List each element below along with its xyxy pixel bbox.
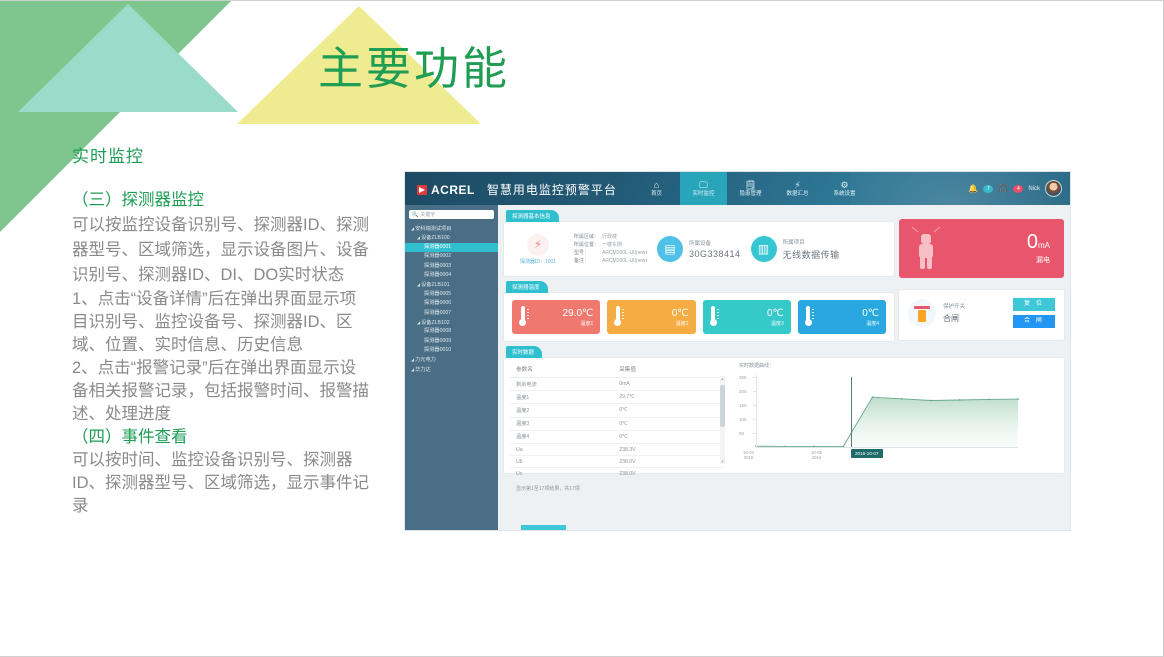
- owning-device-title: 所属设备: [689, 239, 741, 247]
- field-remark-key: 备注：: [574, 257, 602, 265]
- tree-node-label: 设备ZLB100: [421, 235, 450, 241]
- table-header-row: 参数名 采集值: [510, 362, 725, 378]
- tree-node-9[interactable]: 探测器0007: [409, 309, 494, 318]
- chart-y-tickmark: [753, 377, 756, 378]
- param-name-cell: Ua: [510, 443, 613, 455]
- nav-label-realtime-monitor: 实时监控: [692, 191, 714, 197]
- chart-y-tick-label: 150: [739, 403, 747, 408]
- tree-node-4[interactable]: 探测器0003: [409, 262, 494, 271]
- tree-node-7[interactable]: 探测器0005: [409, 290, 494, 299]
- tree-node-12[interactable]: 探测器0009: [409, 337, 494, 346]
- temperature-card-2: 0℃温度2: [607, 300, 695, 334]
- search-icon: 🔍: [412, 212, 418, 218]
- collected-value-cell: 238.3V: [613, 443, 725, 455]
- tree-node-2[interactable]: 探测器0001: [405, 243, 498, 252]
- owning-project-block: ▥ 所属项目 无线数据传输: [751, 236, 840, 262]
- field-area: 所属区域：行政楼: [574, 233, 647, 241]
- tree-node-10[interactable]: ◢设备ZLB102: [409, 318, 494, 327]
- scroll-down-icon[interactable]: ▼: [721, 459, 725, 464]
- close-breaker-button[interactable]: 合 闸: [1013, 315, 1055, 328]
- param-name-cell: 温度1: [510, 391, 613, 404]
- leakage-value: 0: [1027, 231, 1038, 253]
- field-location-value: 一楼东侧: [602, 242, 622, 248]
- chart-data-point: [872, 396, 874, 398]
- leakage-label: 漏电: [1027, 255, 1050, 265]
- nav-label-home: 首页: [651, 191, 662, 197]
- tree-node-label: 设备ZLB102: [421, 320, 450, 326]
- clipboard-icon: 🗒: [745, 181, 756, 190]
- chart-svg: [739, 373, 1019, 451]
- footer-tab-indicator: [521, 525, 566, 530]
- decorative-triangle-teal: [18, 4, 238, 112]
- realtime-data-panel: 参数名 采集值 剩余电流0mA温度129.7℃温度20℃温度30℃温度40℃Ua…: [504, 358, 1064, 473]
- tree-node-8[interactable]: 探测器0006: [409, 299, 494, 308]
- field-model: 型号：ARCM200L-UI(new): [574, 249, 647, 257]
- param-name-cell: Uc: [510, 468, 613, 480]
- temperature-card-4: 0℃温度4: [798, 300, 886, 334]
- tree-node-13[interactable]: 探测器0010: [409, 346, 494, 355]
- nav-item-data-summary[interactable]: ⚡ 数据汇总: [774, 172, 821, 205]
- main-content: 探测器基本信息 ⚡ 探测器ID：1001 所属区域：行政楼 所属位置：一楼东侧: [498, 205, 1070, 530]
- chart-data-point: [988, 399, 990, 401]
- avatar[interactable]: [1045, 180, 1062, 197]
- tree-node-label: 设备ZLB101: [421, 282, 450, 288]
- body-paragraph-3: 2、点击“报警记录”后在弹出界面显示设备相关报警记录，包括报警时间、报警描述、处…: [72, 357, 372, 426]
- owning-project-title: 所属项目: [783, 238, 840, 246]
- tree-node-label: 华力达: [415, 367, 431, 373]
- nav-label-system-settings: 系统设置: [833, 191, 855, 197]
- collected-value-cell: 238.0V: [613, 456, 725, 468]
- project-icon: ▥: [751, 236, 777, 262]
- home-icon: ⌂: [654, 181, 659, 190]
- scroll-up-icon[interactable]: ▲: [721, 376, 725, 381]
- table-row[interactable]: 温度20℃: [510, 404, 725, 417]
- owning-project-value: 无线数据传输: [783, 248, 840, 261]
- field-remark: 备注：ARCM200L-UI(new): [574, 257, 647, 265]
- chart-y-tick-label: 50: [739, 431, 744, 436]
- electric-shock-person-icon: [915, 229, 937, 269]
- breaker-icon: [908, 299, 936, 327]
- field-area-key: 所属区域：: [574, 233, 602, 241]
- detector-icon: ⚡: [527, 234, 549, 256]
- tree-node-5[interactable]: 探测器0004: [409, 271, 494, 280]
- thermometer-icon: [805, 306, 812, 328]
- panel-tab-basic-info: 探测器基本信息: [506, 210, 559, 222]
- field-location: 所属位置：一楼东侧: [574, 241, 647, 249]
- chart-y-tickmark: [753, 391, 756, 392]
- bell-badge: 7: [983, 185, 993, 193]
- param-name-cell: 温度3: [510, 417, 613, 430]
- search-input[interactable]: 关键字: [420, 211, 435, 218]
- table-row[interactable]: 温度40℃: [510, 430, 725, 443]
- collected-value-cell: 238.0V: [613, 468, 725, 480]
- temperature-label: 温度3: [767, 320, 784, 327]
- panel-tab-realtime-data: 实时数据: [506, 346, 542, 358]
- tree-node-3[interactable]: 探测器0002: [409, 252, 494, 261]
- expand-caret-icon[interactable]: ◢: [411, 357, 414, 362]
- tree-node-0[interactable]: ◢安科瑞测试项目: [409, 224, 494, 233]
- tree-node-label: 探测器0003: [424, 263, 451, 269]
- product-title: 智慧用电监控预警平台: [487, 181, 617, 198]
- field-model-key: 型号：: [574, 249, 602, 257]
- nav-item-hazard-management[interactable]: 🗒 隐患管理: [727, 172, 774, 205]
- body-paragraph-2: 1、点击“设备详情”后在弹出界面显示项目识别号、监控设备号、探测器ID、区域、位…: [72, 288, 372, 357]
- nav-item-system-settings[interactable]: ⚙ 系统设置: [821, 172, 868, 205]
- chart-cursor-line: [851, 377, 852, 447]
- param-name-cell: 温度4: [510, 430, 613, 443]
- owning-device-block: ▤ 所属设备 30G338414: [657, 236, 741, 262]
- temperature-card-1: 29.0℃温度1: [512, 300, 600, 334]
- chart-data-point: [959, 399, 961, 401]
- chart-data-point: [901, 398, 903, 400]
- header-right-tools: 🔔 7 🎧 4 Nick: [968, 180, 1062, 197]
- expand-caret-icon[interactable]: ◢: [411, 367, 414, 372]
- collected-value-cell: 0mA: [613, 378, 725, 391]
- tree-node-label: 探测器0009: [424, 338, 451, 344]
- field-model-value: ARCM200L-UI(new): [602, 250, 647, 256]
- tree-node-label: 探测器0010: [424, 347, 451, 353]
- tree-node-label: 探测器0006: [424, 300, 451, 306]
- param-name-cell: 剩余电流: [510, 378, 613, 391]
- tree-node-14[interactable]: ◢力元电力: [409, 355, 494, 364]
- app-body: 🔍 关键字 ◢安科瑞测试项目◢设备ZLB100探测器0001探测器0002探测器…: [405, 205, 1070, 530]
- chart-icon: ⚡: [794, 181, 800, 190]
- chart-x-label-1: 10-042016: [743, 450, 754, 460]
- slide-canvas: 主要功能 实时监控 （三）探测器监控 可以按监控设备识别号、探测器ID、探测器型…: [0, 0, 1164, 657]
- collected-value-cell: 0℃: [613, 417, 725, 430]
- realtime-chart: 50100150200250 10-042016 10-062016 2016-…: [739, 373, 1019, 451]
- chart-data-point: [930, 400, 932, 402]
- expand-caret-icon[interactable]: ◢: [411, 226, 414, 231]
- scroll-thumb[interactable]: [720, 385, 725, 427]
- nav-label-data-summary: 数据汇总: [786, 191, 808, 197]
- column-collected-value: 采集值: [613, 362, 725, 378]
- field-area-value: 行政楼: [602, 234, 617, 240]
- section-heading: 实时监控: [72, 142, 144, 167]
- temperature-value: 0℃: [672, 308, 689, 319]
- leakage-alarm-card: 0mA 漏电: [899, 219, 1064, 278]
- collected-value-cell: 29.7℃: [613, 391, 725, 404]
- temperature-label: 温度1: [563, 320, 594, 327]
- thermometer-icon: [614, 306, 621, 328]
- realtime-data-table-wrap: 参数名 采集值 剩余电流0mA温度129.7℃温度20℃温度30℃温度40℃Ua…: [510, 362, 725, 492]
- monitor-icon: 🖵: [699, 181, 708, 190]
- chart-y-tickmark: [753, 419, 756, 420]
- sidebar-search[interactable]: 🔍 关键字: [409, 210, 494, 219]
- switch-title: 保护开关: [943, 302, 965, 310]
- realtime-chart-wrap: 实时数据曲线：: [725, 362, 1058, 492]
- tree-node-label: 力元电力: [415, 357, 436, 363]
- nav-item-home[interactable]: ⌂ 首页: [633, 172, 680, 205]
- table-row[interactable]: Ua238.3V: [510, 443, 725, 455]
- temperature-label: 温度2: [672, 320, 689, 327]
- chart-y-axis: [756, 375, 757, 447]
- thermometer-icon: [710, 306, 717, 328]
- chart-y-tick-label: 200: [739, 389, 747, 394]
- device-tree: ◢安科瑞测试项目◢设备ZLB100探测器0001探测器0002探测器0003探测…: [409, 224, 494, 374]
- chart-y-tick-label: 100: [739, 417, 747, 422]
- switch-state: 合闸: [943, 313, 965, 324]
- slide-top-border: [0, 0, 1164, 1]
- temperature-panel: 29.0℃温度10℃温度20℃温度30℃温度4: [504, 293, 894, 341]
- detector-identity: ⚡ 探测器ID：1001: [512, 234, 564, 265]
- slide-body-text: （三）探测器监控 可以按监控设备识别号、探测器ID、探测器型号、区域筛选，显示设…: [72, 188, 372, 518]
- chart-x-axis: [756, 447, 1018, 448]
- headset-badge: 4: [1013, 185, 1023, 193]
- protection-switch-panel: 保护开关 合闸 复 位 合 闸: [899, 290, 1064, 340]
- detector-basic-info-panel: ⚡ 探测器ID：1001 所属区域：行政楼 所属位置：一楼东侧 型号：ARCM2…: [504, 222, 894, 276]
- expand-caret-icon[interactable]: ◢: [417, 235, 420, 240]
- chart-title: 实时数据曲线：: [739, 362, 1058, 369]
- expand-caret-icon[interactable]: ◢: [417, 320, 420, 325]
- tree-node-label: 探测器0005: [424, 291, 451, 297]
- app-header: ACREL 智慧用电监控预警平台 ⌂ 首页 🖵 实时监控 🗒 隐患管理 ⚡: [405, 172, 1070, 205]
- subsection-heading-3: （三）探测器监控: [72, 188, 372, 213]
- device-icon: ▤: [657, 236, 683, 262]
- detector-fields: 所属区域：行政楼 所属位置：一楼东侧 型号：ARCM200L-UI(new) 备…: [574, 233, 647, 265]
- table-row[interactable]: 温度129.7℃: [510, 391, 725, 404]
- nav-label-hazard-management: 隐患管理: [739, 191, 761, 197]
- body-paragraph-1: 可以按监控设备识别号、探测器ID、探测器型号、区域筛选，显示设备图片、设备识别号…: [72, 213, 372, 288]
- tree-node-15[interactable]: ◢华力达: [409, 365, 494, 374]
- info-row: 探测器基本信息 ⚡ 探测器ID：1001 所属区域：行政楼 所属位置：一楼东侧: [504, 210, 1064, 281]
- table-row[interactable]: Uc238.0V: [510, 468, 725, 480]
- user-name[interactable]: Nick: [1028, 186, 1040, 192]
- expand-caret-icon[interactable]: ◢: [417, 282, 420, 287]
- field-location-key: 所属位置：: [574, 241, 602, 249]
- param-name-cell: 温度2: [510, 404, 613, 417]
- main-nav: ⌂ 首页 🖵 实时监控 🗒 隐患管理 ⚡ 数据汇总 ⚙ 系统设置: [633, 172, 868, 205]
- tree-node-6[interactable]: ◢设备ZLB101: [409, 280, 494, 289]
- app-logo: ACREL 智慧用电监控预警平台: [417, 181, 617, 198]
- table-row[interactable]: 剩余电流0mA: [510, 378, 725, 391]
- realtime-data-table: 参数名 采集值 剩余电流0mA温度129.7℃温度20℃温度30℃温度40℃Ua…: [510, 362, 725, 481]
- chart-y-tickmark: [753, 433, 756, 434]
- table-row[interactable]: 温度30℃: [510, 417, 725, 430]
- chart-x-label-2: 10-062016: [811, 450, 822, 460]
- table-footer-summary: 显示第1至17项结果，共17项: [510, 481, 725, 492]
- embedded-app-screenshot: ACREL 智慧用电监控预警平台 ⌂ 首页 🖵 实时监控 🗒 隐患管理 ⚡: [405, 172, 1070, 530]
- table-scrollbar[interactable]: ▲ ▼: [720, 376, 725, 464]
- chart-y-tick-label: 250: [739, 375, 747, 380]
- gear-icon: ⚙: [840, 181, 848, 190]
- tree-node-1[interactable]: ◢设备ZLB100: [409, 233, 494, 242]
- bell-icon[interactable]: 🔔: [968, 184, 978, 193]
- realtime-data-row: 实时数据 参数名 采集值 剩余电流0mA温度129.7℃温度20℃温度30℃温度…: [504, 346, 1064, 473]
- tree-node-11[interactable]: 探测器0008: [409, 327, 494, 336]
- table-row[interactable]: Ub238.0V: [510, 456, 725, 468]
- body-paragraph-4: 可以按时间、监控设备识别号、探测器ID、探测器型号、区域筛选，显示事件记录: [72, 449, 372, 518]
- chart-annotation: 2016-10-07: [851, 449, 883, 458]
- temperature-label: 温度4: [862, 320, 879, 327]
- panel-tab-temperature: 探测器温度: [506, 281, 548, 293]
- collected-value-cell: 0℃: [613, 430, 725, 443]
- temperature-value: 0℃: [767, 308, 784, 319]
- sidebar-tree-panel: 🔍 关键字 ◢安科瑞测试项目◢设备ZLB100探测器0001探测器0002探测器…: [405, 205, 498, 530]
- temperature-value: 0℃: [862, 308, 879, 319]
- page-title: 主要功能: [318, 32, 510, 97]
- collected-value-cell: 0℃: [613, 404, 725, 417]
- temperature-value: 29.0℃: [563, 308, 594, 319]
- tree-node-label: 探测器0001: [424, 244, 451, 250]
- tree-node-label: 探测器0004: [424, 272, 451, 278]
- thermometer-icon: [519, 306, 526, 328]
- acrel-logo-icon: [417, 185, 427, 195]
- leakage-unit: mA: [1038, 241, 1050, 250]
- headset-icon[interactable]: 🎧: [998, 184, 1008, 193]
- chart-data-point: [1017, 398, 1019, 400]
- tree-node-label: 探测器0008: [424, 328, 451, 334]
- subsection-heading-4: （四）事件查看: [72, 426, 372, 449]
- field-remark-value: ARCM200L-UI(new): [602, 258, 647, 264]
- tree-node-label: 安科瑞测试项目: [415, 226, 451, 232]
- reset-button[interactable]: 复 位: [1013, 298, 1055, 311]
- tree-node-label: 探测器0007: [424, 310, 451, 316]
- detector-id-label: 探测器ID：1001: [520, 258, 556, 265]
- chart-y-tickmark: [753, 405, 756, 406]
- temperature-row: 探测器温度 29.0℃温度10℃温度20℃温度30℃温度4 保护开关 合闸: [504, 281, 1064, 346]
- column-param-name: 参数名: [510, 362, 613, 378]
- temperature-card-3: 0℃温度3: [703, 300, 791, 334]
- tree-node-label: 探测器0002: [424, 253, 451, 259]
- nav-item-realtime-monitor[interactable]: 🖵 实时监控: [680, 172, 727, 205]
- brand-name: ACREL: [431, 183, 475, 197]
- owning-device-value: 30G338414: [689, 249, 741, 259]
- param-name-cell: Ub: [510, 456, 613, 468]
